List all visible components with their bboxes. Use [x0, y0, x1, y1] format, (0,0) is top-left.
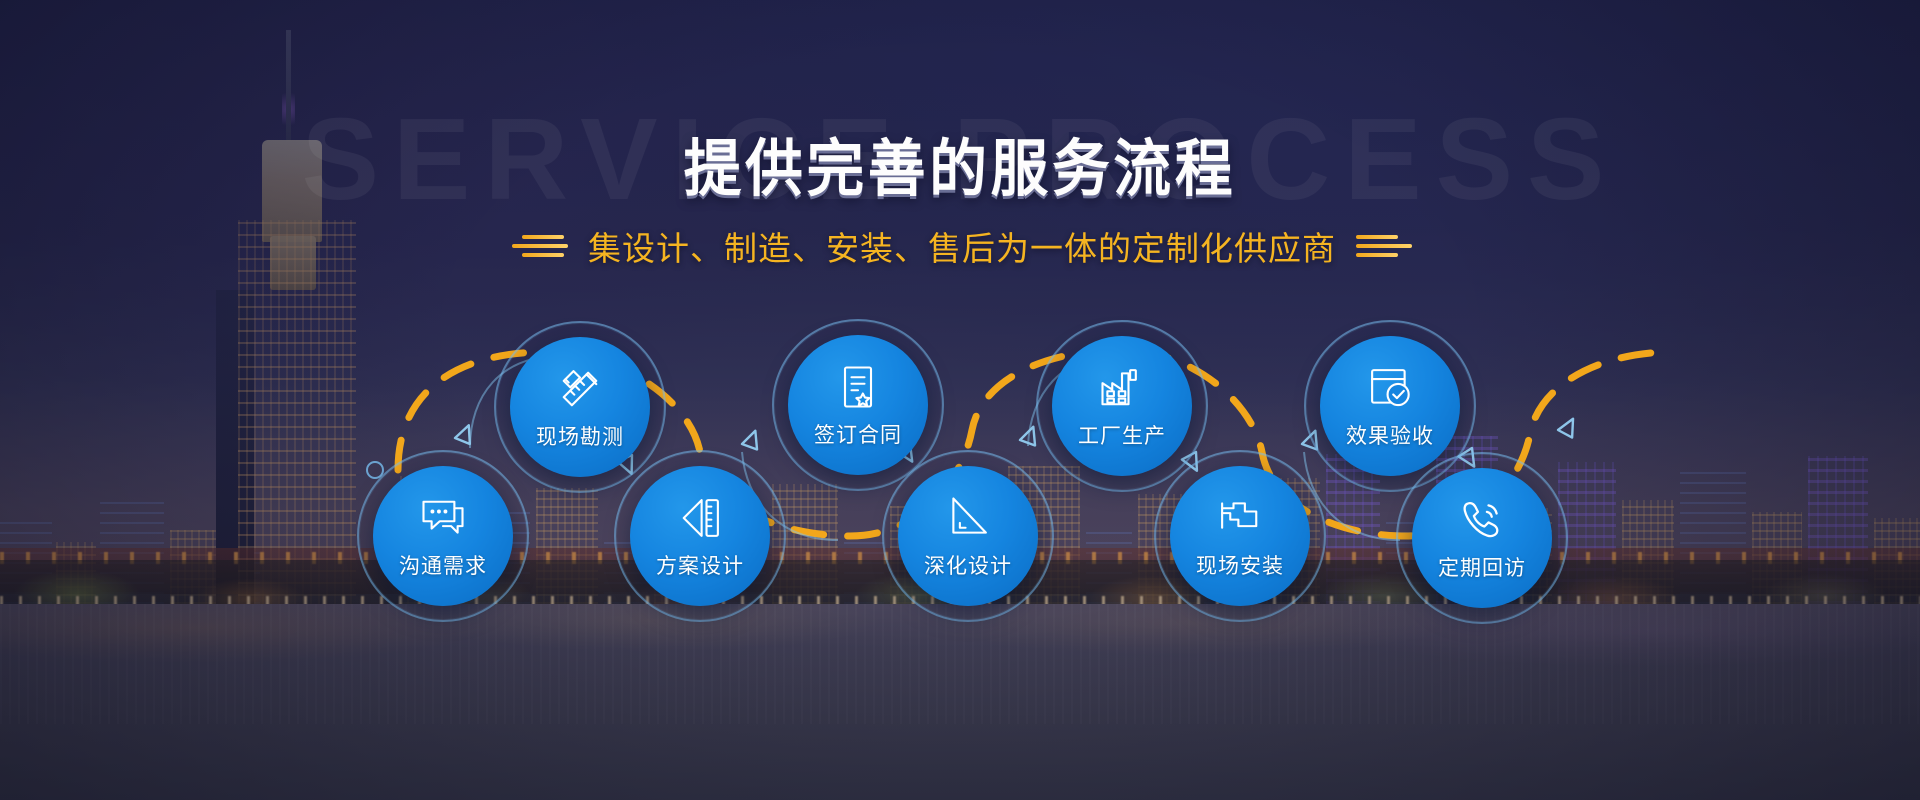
phone-call-icon [1456, 494, 1508, 546]
step-label: 深化设计 [924, 550, 1012, 580]
window-check-icon [1364, 362, 1416, 414]
step-label: 效果验收 [1346, 420, 1434, 450]
step-disc[interactable]: 定期回访 [1412, 468, 1552, 608]
chat-bubble-icon [417, 492, 469, 544]
ruler-pencil-icon [554, 363, 606, 415]
step-label: 沟通需求 [399, 550, 487, 580]
step-label: 方案设计 [656, 550, 744, 580]
service-process-flow: 沟通需求 现场勘测 [0, 0, 1920, 800]
step-disc[interactable]: 签订合同 [788, 335, 928, 475]
contract-seal-icon [832, 361, 884, 413]
step-label: 现场安装 [1196, 550, 1284, 580]
step-label: 定期回访 [1438, 552, 1526, 582]
step-label: 签订合同 [814, 419, 902, 449]
design-ruler-icon [674, 492, 726, 544]
step-disc[interactable]: 方案设计 [630, 466, 770, 606]
step-disc[interactable]: 工厂生产 [1052, 336, 1192, 476]
step-disc[interactable]: 沟通需求 [373, 466, 513, 606]
step-disc[interactable]: 效果验收 [1320, 336, 1460, 476]
step-disc[interactable]: 现场安装 [1170, 466, 1310, 606]
drill-icon [1214, 492, 1266, 544]
step-disc[interactable]: 现场勘测 [510, 337, 650, 477]
set-square-icon [942, 492, 994, 544]
flow-connector-path [0, 0, 1920, 800]
factory-icon [1096, 362, 1148, 414]
step-label: 现场勘测 [536, 421, 624, 451]
step-label: 工厂生产 [1078, 420, 1166, 450]
step-disc[interactable]: 深化设计 [898, 466, 1038, 606]
